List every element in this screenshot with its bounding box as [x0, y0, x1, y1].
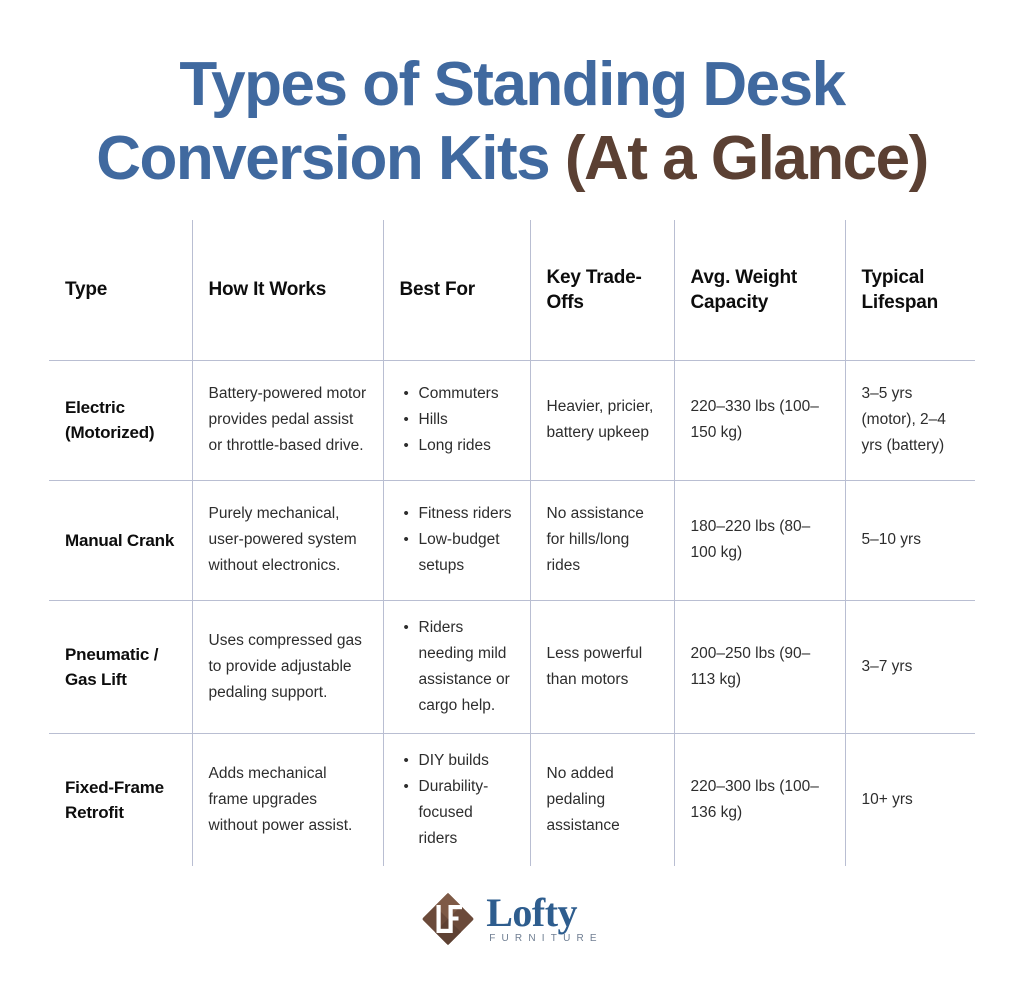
cell-trade-offs: Heavier, pricier, battery upkeep — [530, 360, 674, 480]
list-item: Riders needing mild assistance or cargo … — [419, 615, 514, 719]
cell-how-it-works: Uses compressed gas to provide adjustabl… — [192, 600, 383, 733]
cell-trade-offs: No assistance for hills/long rides — [530, 480, 674, 600]
cell-best-for: Riders needing mild assistance or cargo … — [383, 600, 530, 733]
title-line-2-accent: (At a Glance) — [565, 124, 928, 193]
infographic-page: Types of Standing Desk Conversion Kits (… — [0, 0, 1024, 983]
column-header-how-it-works: How It Works — [192, 220, 383, 360]
column-header-typical-lifespan: Typical Lifespan — [845, 220, 975, 360]
cell-type: Pneumatic / Gas Lift — [49, 600, 192, 733]
best-for-list: Commuters Hills Long rides — [400, 381, 514, 459]
cell-type: Manual Crank — [49, 480, 192, 600]
column-header-best-for: Best For — [383, 220, 530, 360]
comparison-table: Type How It Works Best For Key Trade-Off… — [49, 220, 975, 866]
title-line-1: Types of Standing Desk — [40, 48, 984, 122]
cell-trade-offs: No added pedaling assistance — [530, 733, 674, 866]
cell-how-it-works: Purely mechanical, user-powered system w… — [192, 480, 383, 600]
cell-type: Electric (Motorized) — [49, 360, 192, 480]
table-row: Fixed-Frame Retrofit Adds mechanical fra… — [49, 733, 975, 866]
cell-weight-capacity: 200–250 lbs (90–113 kg) — [674, 600, 845, 733]
brand-name: Lofty — [486, 890, 577, 935]
column-header-avg-weight-capacity: Avg. Weight Capacity — [674, 220, 845, 360]
brand-footer: Lofty FURNITURE — [0, 892, 1024, 946]
list-item: Fitness riders — [419, 501, 514, 527]
table-header-row: Type How It Works Best For Key Trade-Off… — [49, 220, 975, 360]
page-title: Types of Standing Desk Conversion Kits (… — [0, 0, 1024, 196]
cell-lifespan: 3–7 yrs — [845, 600, 975, 733]
cell-how-it-works: Battery-powered motor provides pedal ass… — [192, 360, 383, 480]
cell-best-for: Commuters Hills Long rides — [383, 360, 530, 480]
table-row: Manual Crank Purely mechanical, user-pow… — [49, 480, 975, 600]
list-item: Long rides — [419, 433, 514, 459]
table-body: Electric (Motorized) Battery-powered mot… — [49, 360, 975, 866]
list-item: Commuters — [419, 381, 514, 407]
cell-weight-capacity: 220–300 lbs (100–136 kg) — [674, 733, 845, 866]
table-row: Electric (Motorized) Battery-powered mot… — [49, 360, 975, 480]
brand-tagline: FURNITURE — [486, 934, 603, 944]
table-header: Type How It Works Best For Key Trade-Off… — [49, 220, 975, 360]
title-line-2-main: Conversion Kits — [96, 124, 565, 193]
comparison-table-container: Type How It Works Best For Key Trade-Off… — [49, 220, 975, 866]
column-header-key-trade-offs: Key Trade-Offs — [530, 220, 674, 360]
best-for-list: DIY builds Durability-focused riders — [400, 748, 514, 852]
cell-trade-offs: Less powerful than motors — [530, 600, 674, 733]
list-item: Low-budget setups — [419, 527, 514, 579]
cell-weight-capacity: 220–330 lbs (100–150 kg) — [674, 360, 845, 480]
list-item: Durability-focused riders — [419, 774, 514, 852]
best-for-list: Fitness riders Low-budget setups — [400, 501, 514, 579]
cell-weight-capacity: 180–220 lbs (80–100 kg) — [674, 480, 845, 600]
cell-lifespan: 3–5 yrs (motor), 2–4 yrs (battery) — [845, 360, 975, 480]
title-line-2: Conversion Kits (At a Glance) — [40, 122, 984, 196]
cell-best-for: DIY builds Durability-focused riders — [383, 733, 530, 866]
table-row: Pneumatic / Gas Lift Uses compressed gas… — [49, 600, 975, 733]
list-item: Hills — [419, 407, 514, 433]
cell-how-it-works: Adds mechanical frame upgrades without p… — [192, 733, 383, 866]
cell-lifespan: 5–10 yrs — [845, 480, 975, 600]
column-header-type: Type — [49, 220, 192, 360]
lofty-diamond-logo-icon — [421, 892, 475, 946]
cell-lifespan: 10+ yrs — [845, 733, 975, 866]
list-item: DIY builds — [419, 748, 514, 774]
brand-logotype: Lofty FURNITURE — [486, 893, 603, 944]
cell-type: Fixed-Frame Retrofit — [49, 733, 192, 866]
cell-best-for: Fitness riders Low-budget setups — [383, 480, 530, 600]
best-for-list: Riders needing mild assistance or cargo … — [400, 615, 514, 719]
